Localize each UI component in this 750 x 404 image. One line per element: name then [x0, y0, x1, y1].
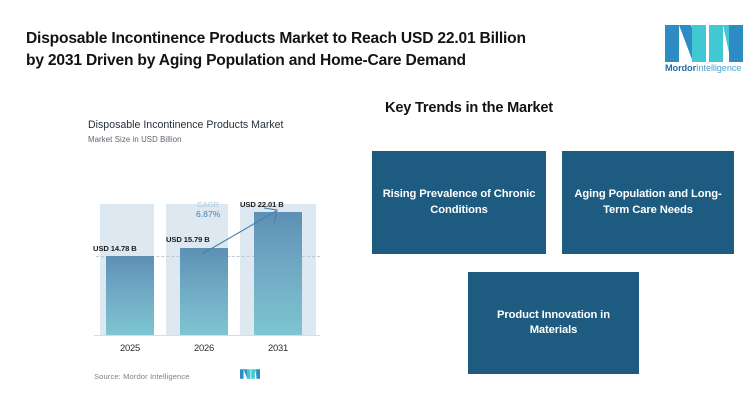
logo-wordmark-bold: Mordor [665, 63, 696, 73]
chart-band-gap-1 [154, 204, 166, 335]
chart-xtick-2031: 2031 [254, 342, 302, 353]
infographic-page: Disposable Incontinence Products Market … [0, 0, 750, 404]
trend-card-rising-prevalence[interactable]: Rising Prevalence of Chronic Conditions [372, 151, 546, 254]
page-title-line-2: by 2031 Driven by Aging Population and H… [26, 50, 626, 72]
logo-wordmark: MordorIntelligence [665, 63, 743, 74]
logo-wordmark-light: Intelligence [696, 63, 741, 73]
chart-x-axis [94, 335, 320, 336]
market-size-chart: Disposable Incontinence Products Market … [88, 118, 320, 390]
chart-bar-2026 [180, 248, 228, 335]
chart-plot-area: USD 14.78 B USD 15.79 B USD 22.01 B CAGR… [88, 178, 320, 353]
chart-xtick-2025: 2025 [106, 342, 154, 353]
chart-subtitle: Market Size in USD Billion [88, 135, 320, 144]
chart-xtick-2026: 2026 [180, 342, 228, 353]
chart-bar-2025 [106, 256, 154, 335]
key-trends-heading: Key Trends in the Market [385, 100, 553, 116]
logo-mark-icon [665, 25, 743, 62]
source-logo-icon [240, 368, 260, 380]
chart-growth-arrow-icon [198, 194, 290, 258]
trend-card-aging-population[interactable]: Aging Population and Long-Term Care Need… [562, 151, 734, 254]
page-title: Disposable Incontinence Products Market … [26, 28, 626, 72]
page-title-line-1: Disposable Incontinence Products Market … [26, 30, 526, 47]
mordor-intelligence-logo: MordorIntelligence [665, 25, 743, 79]
chart-title: Disposable Incontinence Products Market [88, 118, 288, 132]
chart-source: Source: Mordor Intelligence [94, 372, 190, 381]
trend-card-product-innovation[interactable]: Product Innovation in Materials [468, 272, 639, 374]
chart-value-label-2025: USD 14.78 B [93, 244, 137, 253]
